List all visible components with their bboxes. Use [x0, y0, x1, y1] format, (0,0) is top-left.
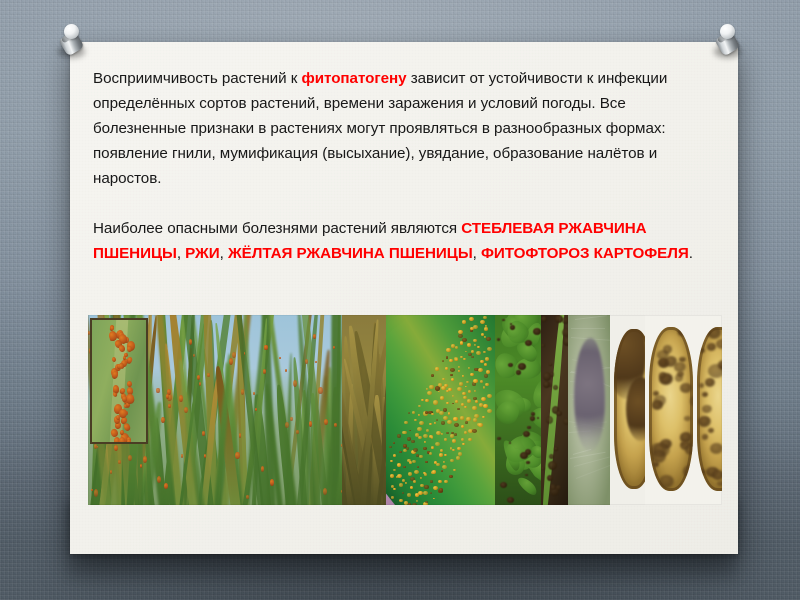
stripe-rust-pustule [474, 414, 479, 418]
stem-lesion [543, 372, 551, 380]
stripe-rust-pustule [412, 411, 415, 414]
rust-pustule [296, 430, 298, 434]
stem-lesion [546, 416, 553, 424]
stem-lesion [554, 447, 558, 451]
diseases-period: . [689, 245, 693, 262]
rust-pustule [285, 422, 289, 429]
stripe-rust-pustule [420, 477, 423, 479]
rust-pustule [315, 361, 316, 363]
stripe-rust-pustule [445, 367, 448, 369]
stripe-rust-pustule [414, 470, 419, 474]
tuber-whole [614, 329, 645, 489]
rust-pustule [270, 479, 274, 485]
stripe-rust-pustule [472, 429, 477, 433]
stripe-rust-pustule [458, 334, 463, 338]
stripe-rust-pustule [417, 466, 419, 468]
stripe-rust-pustule [435, 367, 440, 371]
stripe-rust-pustule [455, 346, 458, 348]
blight-lesion [516, 370, 521, 375]
stripe-rust-pustule [436, 463, 439, 466]
disease-photo-strip [88, 315, 722, 505]
stripe-rust-pustule [478, 423, 483, 427]
stripe-rust-pustule [474, 390, 476, 392]
rust-pustule [264, 345, 267, 350]
stripe-rust-pustule [443, 408, 447, 412]
stem-lesion [556, 411, 561, 417]
stripe-rust-pustule [434, 422, 436, 424]
photo-blight-foliage [495, 315, 540, 505]
stripe-rust-pustule [464, 431, 467, 434]
stem-lesion [553, 385, 558, 390]
rust-pustule [127, 346, 133, 353]
stem-lesion [543, 381, 550, 388]
stripe-rust-pustule [406, 447, 409, 449]
stripe-rust-pustule [446, 432, 449, 434]
highlight-rye: РЖИ [185, 245, 219, 262]
stripe-rust-pustule [454, 423, 459, 427]
stripe-rust-pustule [416, 454, 419, 457]
stripe-rust-pustule [407, 493, 411, 497]
intro-text-part-1: Восприимчивость растений к [93, 70, 301, 87]
content-card: Восприимчивость растений к фитопатогену … [70, 42, 738, 554]
rust-pustule [193, 354, 195, 357]
stripe-rust-pustule [466, 417, 471, 421]
photo-blight-stem [541, 315, 568, 505]
stripe-rust-pustule [424, 485, 428, 489]
stripe-rust-pustule [458, 370, 460, 372]
body-copy: Восприимчивость растений к фитопатогену … [93, 66, 711, 266]
stripe-rust-pustule [486, 337, 491, 341]
rust-pustule [290, 417, 293, 421]
diseases-separator-3: , [473, 245, 481, 262]
stripe-rust-pustule [412, 503, 417, 505]
grey-sporulation [574, 338, 604, 452]
rust-pustule [202, 431, 205, 435]
highlight-phytopathogen: фитопатогену [301, 70, 406, 87]
tuber-half-right [697, 327, 722, 491]
rust-pustule [239, 433, 242, 437]
stripe-rust-pustule [429, 385, 433, 389]
rust-pustule [91, 489, 93, 492]
stripe-rust-pustule [432, 470, 436, 473]
intro-text-part-2: зависит от устойчивости к инфекции опред… [93, 70, 667, 187]
stripe-rust-pustule [477, 346, 480, 348]
slide-root: Восприимчивость растений к фитопатогену … [0, 0, 800, 600]
blight-lesion [508, 363, 513, 367]
stem-lesion [549, 454, 554, 459]
stripe-rust-pustule [423, 491, 428, 495]
stripe-rust-pustule [433, 400, 438, 404]
stripe-rust-pustule [436, 419, 438, 421]
stripe-rust-pustule [456, 456, 460, 459]
stripe-rust-pustule [473, 418, 477, 421]
stripe-rust-pustule [468, 390, 471, 393]
photo-grey-mould-leaf [568, 315, 610, 505]
stripe-rust-pustule [397, 434, 401, 438]
rust-pustule [179, 395, 183, 401]
stripe-rust-pustule [410, 486, 413, 489]
rust-pustule [128, 455, 132, 461]
stripe-rust-pustule [478, 368, 483, 372]
paragraph-dangerous-diseases: Наиболее опасными болезнями растений явл… [93, 216, 711, 266]
stripe-rust-pustule [451, 378, 454, 381]
stripe-rust-pustule [443, 416, 448, 420]
highlight-yellow-rust-wheat: ЖЁЛТАЯ РЖАВЧИНА ПШЕНИЦЫ [228, 245, 473, 262]
stripe-rust-pustule [463, 358, 465, 360]
rot-patch [698, 483, 705, 489]
leaf-vein [571, 328, 606, 329]
stripe-rust-pustule [393, 454, 396, 457]
diseases-separator-1: , [177, 245, 185, 262]
rust-pustule [181, 454, 183, 458]
stripe-rust-pustule [483, 351, 485, 353]
rust-pustule [293, 380, 297, 387]
rust-pustule [207, 373, 209, 377]
rust-pustule [318, 387, 322, 394]
stem-lesion [541, 467, 544, 471]
blight-lesion [527, 426, 530, 429]
stem-lesion [541, 344, 545, 348]
stripe-rust-pustule [461, 403, 464, 406]
photo-dry-infected-wheat [342, 315, 387, 505]
pushpin-head [64, 24, 79, 39]
inset-stem-rust-closeup [90, 318, 148, 444]
rust-pustule [127, 381, 132, 387]
stripe-rust-pustule [418, 414, 420, 416]
stripe-rust-pustule [453, 417, 457, 421]
blight-lesion [500, 482, 507, 488]
rust-pustule [168, 404, 171, 408]
stripe-rust-pustule [468, 367, 470, 369]
rust-pustule [241, 389, 244, 395]
tuber-half-left [649, 327, 693, 491]
stripe-rust-pustule [465, 421, 469, 424]
dry-wheat-stems [342, 315, 387, 505]
blight-lesion [531, 412, 535, 416]
stripe-rust-pustule [393, 488, 395, 490]
tuber-rim [649, 327, 693, 491]
stripe-rust-pustule [484, 327, 488, 330]
stripe-rust-pustule [471, 356, 474, 358]
stripe-rust-pustule [441, 421, 445, 425]
stripe-rust-pustule [442, 360, 444, 362]
rust-pustule [261, 466, 265, 472]
blight-lesion [526, 461, 529, 464]
stripe-rust-pustule [483, 404, 487, 408]
stripe-rust-pustule [459, 382, 463, 385]
photo-yellow-rust-leaf [386, 315, 495, 505]
rust-pustule [229, 358, 233, 365]
stripe-rust-pustule [438, 480, 442, 483]
rust-pustule [127, 439, 131, 444]
rot-patch [689, 342, 693, 348]
stripe-rust-pustule [424, 473, 427, 476]
rust-pustule [324, 419, 328, 425]
rust-pustule [246, 495, 248, 499]
stripe-rust-pustule [485, 325, 487, 327]
stripe-rust-pustule [408, 503, 411, 505]
rust-pustule [305, 359, 308, 364]
stem-lesion [556, 485, 561, 490]
rust-pustule [232, 352, 236, 358]
stripe-rust-pustule [423, 434, 428, 438]
blight-lesion [497, 338, 500, 341]
stem-lesion [550, 484, 555, 489]
stripe-rust-pustule [444, 438, 447, 440]
stripe-rust-pustule [486, 370, 490, 373]
rust-pustule [161, 417, 165, 423]
stripe-rust-pustule [472, 406, 477, 410]
stripe-rust-pustule [425, 501, 427, 503]
stripe-rust-pustule [448, 412, 451, 414]
blight-lesion [523, 431, 530, 437]
stripe-rust-pustule [448, 388, 452, 391]
rust-pustule [285, 369, 287, 372]
stripe-rust-pustule [444, 480, 448, 483]
blight-lesion [530, 416, 535, 420]
rust-pustule [143, 456, 147, 463]
stripe-rust-pustule [446, 348, 450, 352]
stripe-rust-pustule [440, 396, 444, 400]
rust-pustule [119, 437, 126, 444]
stripe-rust-pustule [467, 343, 471, 346]
diseases-separator-2: , [220, 245, 228, 262]
photo-tuber-halves [645, 315, 722, 505]
rust-pustule [334, 423, 337, 427]
blight-lesion [533, 328, 540, 335]
tuber-rim [614, 329, 645, 489]
rust-pustule [279, 357, 280, 359]
blight-lesion [502, 319, 505, 322]
stripe-rust-pustule [475, 400, 478, 403]
blight-lesion [537, 417, 539, 419]
stripe-rust-pustule [485, 383, 489, 386]
blight-lesion [520, 452, 527, 459]
stripe-rust-pustule [487, 409, 492, 413]
stripe-rust-pustule [414, 419, 416, 421]
stripe-rust-pustule [417, 427, 422, 431]
stripe-rust-pustule [390, 474, 395, 478]
stripe-rust-pustule [418, 436, 422, 439]
stripe-rust-pustule [462, 392, 466, 395]
rust-pustule [118, 460, 120, 464]
stripe-rust-pustule [421, 399, 424, 401]
blight-lesion [510, 325, 515, 330]
pushpin-head [720, 24, 735, 39]
stripe-rust-pustule [431, 413, 433, 415]
rust-pustule [189, 339, 192, 345]
pushpin-right-icon[interactable] [708, 22, 748, 66]
stripe-rust-pustule [449, 475, 453, 478]
highlight-potato-blight: ФИТОФТОРОЗ КАРТОФЕЛЯ [481, 245, 689, 262]
blight-lesion [518, 363, 526, 370]
photo-stem-rust-field [88, 315, 342, 505]
stem-lesion [547, 475, 553, 481]
stem-lesion [549, 363, 552, 366]
stripe-rust-pustule [484, 374, 488, 378]
stripe-rust-pustule [419, 421, 424, 425]
diseases-text-part-1: Наиболее опасными болезнями растений явл… [93, 220, 461, 237]
rust-pustule [156, 388, 159, 394]
rust-pustule [166, 394, 169, 400]
stripe-rust-pustule [451, 344, 455, 348]
stripe-rust-pustule [402, 431, 406, 435]
paragraph-phytopathogen: Восприимчивость растений к фитопатогену … [93, 66, 711, 191]
stripe-rust-pustule [425, 461, 428, 463]
stripe-rust-pustule [481, 397, 486, 401]
rust-pustule [235, 452, 239, 459]
stripe-rust-pustule [393, 442, 395, 444]
stripe-rust-pustule [476, 351, 481, 355]
stripe-rust-pustule [440, 449, 443, 452]
tuber-rim [697, 327, 722, 491]
stripe-rust-pustule [390, 460, 392, 462]
stripe-rust-pustule [461, 438, 464, 441]
stripe-rust-pustule [442, 378, 445, 380]
stripe-rust-pustule [391, 496, 394, 498]
stripe-rust-pustule [399, 451, 402, 453]
stripe-rust-pustule [408, 472, 412, 475]
stripe-rust-pustule [452, 439, 456, 443]
pushpin-left-icon[interactable] [52, 22, 92, 66]
photo-tuber-single [610, 315, 645, 505]
